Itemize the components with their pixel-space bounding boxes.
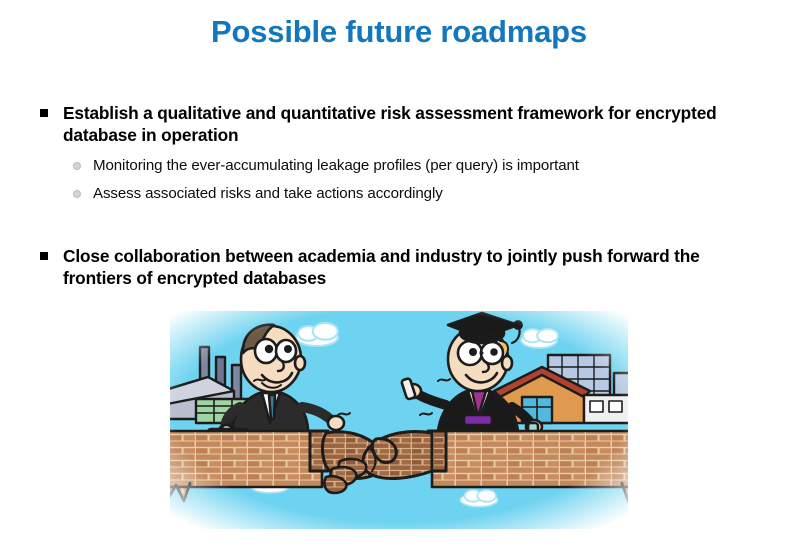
sub-bullet-item-1-2: Assess associated risks and take actions… (73, 184, 764, 203)
sub-bullet-item-1-2-label: Assess associated risks and take actions… (93, 185, 443, 202)
square-bullet-icon (40, 109, 48, 117)
bullet-item-1: Establish a qualitative and quantitative… (38, 102, 764, 147)
bullet-list: Establish a qualitative and quantitative… (38, 102, 764, 290)
cloud-icon (296, 323, 338, 346)
academia-industry-handshake-illustration (170, 311, 628, 529)
sub-bullet-item-1-1: Monitoring the ever-accumulating leakage… (73, 156, 764, 175)
cloud-icon (460, 490, 497, 507)
sub-bullet-list-1: Monitoring the ever-accumulating leakage… (38, 156, 764, 204)
square-bullet-icon (40, 252, 48, 260)
cloud-icon (521, 329, 558, 348)
sub-bullet-item-1-1-label: Monitoring the ever-accumulating leakage… (93, 157, 579, 174)
circle-bullet-icon (73, 190, 81, 198)
bullet-item-2-label: Close collaboration between academia and… (63, 246, 700, 288)
bullet-item-2: Close collaboration between academia and… (38, 245, 764, 290)
bullet-item-1-label: Establish a qualitative and quantitative… (63, 103, 717, 145)
circle-bullet-icon (73, 162, 81, 170)
page-title: Possible future roadmaps (0, 14, 798, 50)
